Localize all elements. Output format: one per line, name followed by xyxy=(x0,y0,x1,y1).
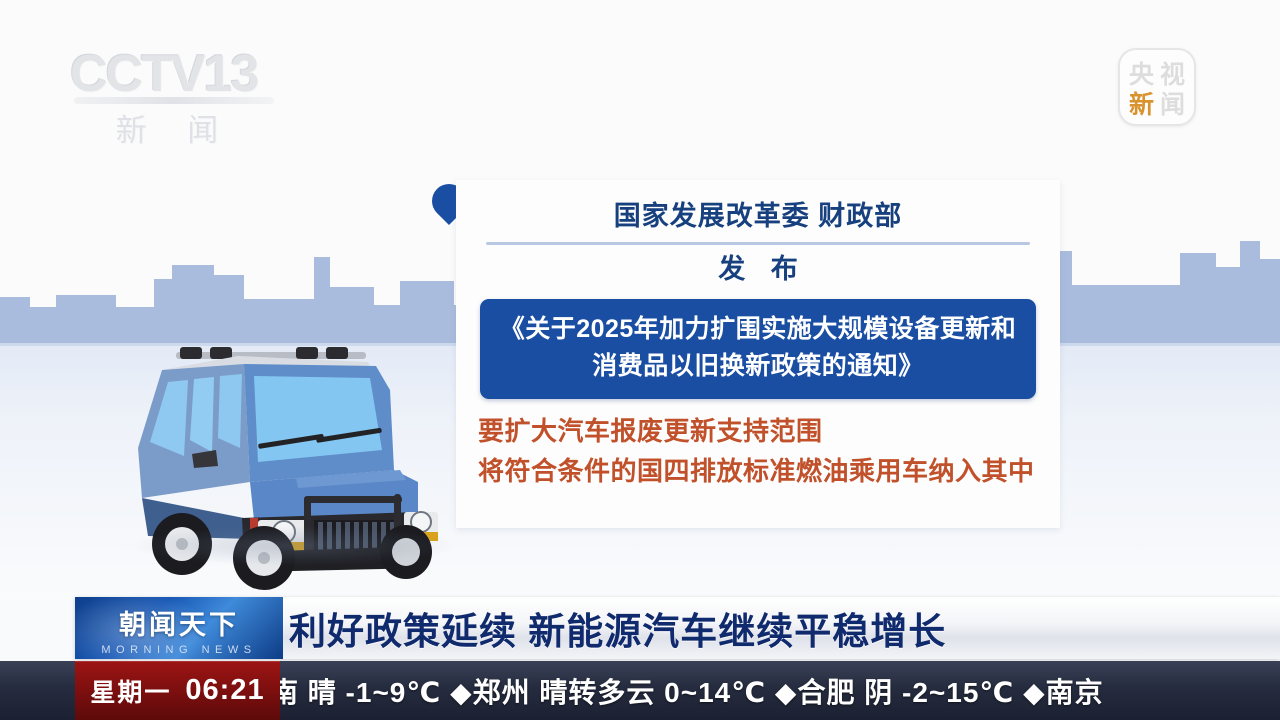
document-title-box: 《关于2025年加力扩围实施大规模设备更新和 消费品以旧换新政策的通知》 xyxy=(480,299,1036,399)
app-badge-char-yang: 央 xyxy=(1129,60,1154,90)
cctv13-channel-logo: CCTV13 新 闻 xyxy=(70,45,280,145)
cctv-news-app-badge: 央 视 新 闻 xyxy=(1118,48,1196,126)
car-ground-shadow xyxy=(128,526,458,566)
policy-info-card: 国家发展改革委 财政部 发 布 《关于2025年加力扩围实施大规模设备更新和 消… xyxy=(456,180,1060,528)
program-logo: 朝闻天下 MORNING NEWS xyxy=(75,597,283,659)
card-divider-rule xyxy=(486,242,1030,245)
app-badge-char-wen: 闻 xyxy=(1160,90,1185,120)
weekday-label: 星期一 xyxy=(90,673,171,709)
headline-text: 利好政策延续 新能源汽车继续平稳增长 xyxy=(289,601,946,655)
document-title-line-1: 《关于2025年加力扩围实施大规模设备更新和 xyxy=(490,311,1026,348)
program-title-cn: 朝闻天下 xyxy=(75,603,283,642)
issuing-agency-label: 国家发展改革委 财政部 xyxy=(470,196,1046,236)
highlight-line-2: 将符合条件的国四排放标准燃油乘用车纳入其中 xyxy=(478,451,1046,491)
release-label: 发 布 xyxy=(470,249,1046,289)
weather-ticker-content: 南 晴 -1~9℃ ◆郑州 晴转多云 0~14℃ ◆合肥 阴 -2~15℃ ◆南… xyxy=(280,661,1280,720)
app-badge-row-2: 新 闻 xyxy=(1120,90,1194,120)
clock-box: 星期一 06:21 xyxy=(75,661,280,720)
clock-time: 06:21 xyxy=(185,674,264,707)
highlight-line-1: 要扩大汽车报废更新支持范围 xyxy=(478,411,1046,451)
cctv13-text: CCTV13 xyxy=(70,45,280,103)
document-title-line-2: 消费品以旧换新政策的通知》 xyxy=(490,348,1026,385)
app-badge-char-shi: 视 xyxy=(1160,60,1185,90)
program-title-en: MORNING NEWS xyxy=(75,644,283,656)
headline-container: 利好政策延续 新能源汽车继续平稳增长 xyxy=(289,597,946,659)
lower-third-banner: 朝闻天下 MORNING NEWS 利好政策延续 新能源汽车继续平稳增长 xyxy=(75,597,1280,659)
logo-sweep-decoration xyxy=(74,97,274,104)
app-badge-char-xin: 新 xyxy=(1129,90,1154,120)
weather-ticker-text: 南 晴 -1~9℃ ◆郑州 晴转多云 0~14℃ ◆合肥 阴 -2~15℃ ◆南… xyxy=(280,671,1104,711)
app-badge-row-1: 央 视 xyxy=(1120,60,1194,90)
cctv13-subtitle: 新 闻 xyxy=(70,105,280,150)
car-illustration xyxy=(118,330,488,590)
